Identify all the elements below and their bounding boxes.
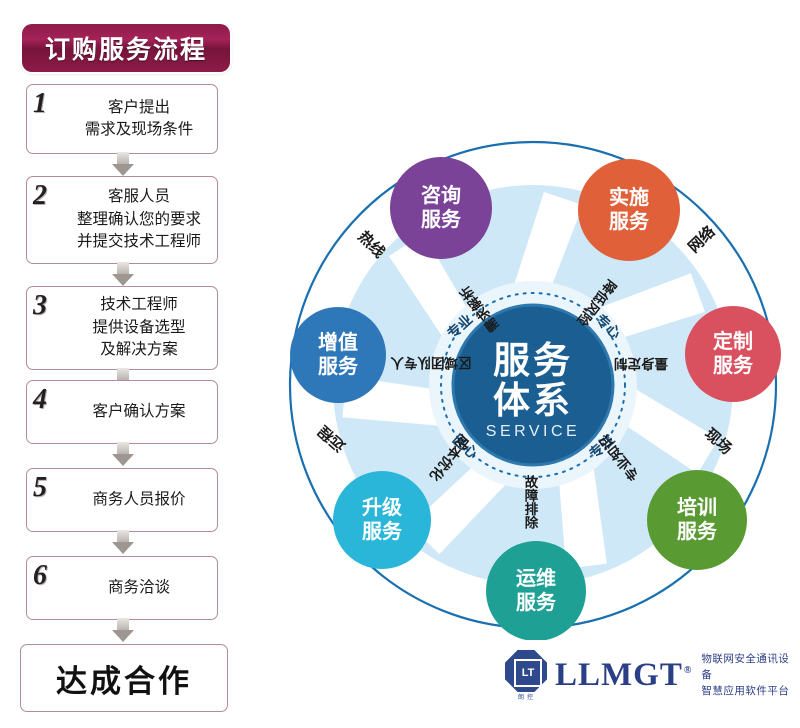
service-node-circle bbox=[578, 159, 680, 261]
logo-wordmark-text: LLMGT bbox=[555, 657, 683, 693]
flow-arrow bbox=[112, 262, 134, 286]
service-node-training[interactable]: 培训 服务 bbox=[647, 470, 747, 570]
step-number: 2 bbox=[27, 177, 67, 210]
flow-arrow bbox=[112, 152, 134, 176]
service-node-label-line2: 服务 bbox=[677, 519, 718, 543]
service-node-circle bbox=[333, 471, 431, 569]
step-line: 客户提出 bbox=[67, 97, 211, 119]
step-text: 客户确认方案 bbox=[67, 397, 217, 427]
service-node-label-line1: 定制 bbox=[713, 329, 753, 353]
center-subtitle: SERVICE bbox=[486, 423, 580, 440]
step-number: 3 bbox=[27, 287, 67, 320]
flow-step-5[interactable]: 5 商务人员报价 bbox=[26, 468, 218, 532]
flow-step-3[interactable]: 3 技术工程师 提供设备选型 及解决方案 bbox=[26, 286, 218, 370]
service-node-circle bbox=[290, 307, 386, 403]
service-node-circle bbox=[390, 157, 492, 259]
service-system-wheel-diagram: 服务 体系 SERVICE 专业 专心 专注 匠心 需求解析 降低风险 量身定制… bbox=[278, 130, 788, 640]
flow-step-1[interactable]: 1 客户提出 需求及现场条件 bbox=[26, 84, 218, 154]
service-node-label-line2: 服务 bbox=[516, 590, 557, 614]
spoke-label-ops: 故障排除 bbox=[523, 474, 539, 531]
service-node-implement[interactable]: 实施 服务 bbox=[578, 159, 680, 261]
logo-registered-mark: ® bbox=[684, 665, 692, 676]
spoke-label-value: 区域团队专人 bbox=[390, 355, 471, 371]
logo-tagline-line1: 物联网安全通讯设备 bbox=[701, 651, 800, 684]
step-line: 技术工程师 bbox=[67, 294, 211, 316]
flow-arrow bbox=[112, 442, 134, 466]
logo-tagline-line2: 智慧应用软件平台 bbox=[701, 683, 800, 699]
step-line: 需求及现场条件 bbox=[67, 119, 211, 141]
service-node-label-line1: 实施 bbox=[609, 185, 649, 209]
order-service-flow-column: 订购服务流程 1 客户提出 需求及现场条件 2 客服人员 整理确认您的要求 并提… bbox=[0, 0, 260, 728]
flow-step-2[interactable]: 2 客服人员 整理确认您的要求 并提交技术工程师 bbox=[26, 176, 218, 264]
service-node-label-line2: 服务 bbox=[609, 209, 650, 233]
step-line: 商务人员报价 bbox=[67, 489, 211, 511]
company-logo: LT 朗控 LLMGT® 物联网安全通讯设备 智慧应用软件平台 bbox=[505, 650, 800, 700]
step-text: 商务洽谈 bbox=[67, 573, 217, 603]
center-title-line2: 体系 bbox=[493, 380, 573, 421]
logo-tagline: 物联网安全通讯设备 智慧应用软件平台 bbox=[701, 651, 800, 700]
step-line: 及解决方案 bbox=[67, 339, 211, 361]
service-node-label-line1: 增值 bbox=[318, 330, 358, 354]
step-text: 客户提出 需求及现场条件 bbox=[67, 93, 217, 146]
step-line: 并提交技术工程师 bbox=[67, 231, 211, 253]
step-text: 客服人员 整理确认您的要求 并提交技术工程师 bbox=[67, 182, 217, 257]
logo-octagon-icon: LT 朗控 bbox=[505, 650, 547, 700]
flow-arrow bbox=[112, 530, 134, 554]
step-line: 商务洽谈 bbox=[67, 577, 211, 599]
spoke-label-custom: 量身定制 bbox=[614, 356, 668, 372]
flow-step-6[interactable]: 6 商务洽谈 bbox=[26, 556, 218, 620]
service-node-circle bbox=[685, 306, 781, 402]
flow-final-outcome: 达成合作 bbox=[20, 644, 228, 712]
flow-title-banner: 订购服务流程 bbox=[22, 24, 230, 72]
center-title-line1: 服务 bbox=[493, 340, 573, 381]
step-number: 5 bbox=[27, 469, 67, 502]
step-line: 客服人员 bbox=[67, 186, 211, 208]
service-node-value[interactable]: 增值 服务 bbox=[290, 307, 386, 403]
step-text: 技术工程师 提供设备选型 及解决方案 bbox=[67, 290, 217, 365]
service-node-label-line2: 服务 bbox=[362, 519, 403, 543]
logo-mark-subtext: 朗控 bbox=[511, 692, 543, 701]
arrow-head bbox=[112, 274, 134, 286]
service-node-label-line2: 服务 bbox=[713, 353, 754, 377]
service-node-label-line1: 升级 bbox=[362, 495, 402, 519]
service-node-upgrade[interactable]: 升级 服务 bbox=[333, 471, 431, 569]
service-node-consult[interactable]: 咨询 服务 bbox=[390, 157, 492, 259]
service-node-label-line1: 咨询 bbox=[421, 183, 461, 207]
step-line: 提供设备选型 bbox=[67, 317, 211, 339]
step-line: 整理确认您的要求 bbox=[67, 209, 211, 231]
step-number: 4 bbox=[27, 381, 67, 414]
service-node-circle bbox=[486, 541, 586, 640]
step-number: 1 bbox=[27, 85, 67, 118]
arrow-head bbox=[112, 454, 134, 466]
arrow-head bbox=[112, 542, 134, 554]
logo-monogram: LT bbox=[514, 659, 542, 687]
service-node-label-line2: 服务 bbox=[421, 207, 462, 231]
service-node-label-line2: 服务 bbox=[318, 354, 359, 378]
arrow-head bbox=[112, 630, 134, 642]
service-node-custom[interactable]: 定制 服务 bbox=[685, 306, 781, 402]
service-node-label-line1: 培训 bbox=[677, 495, 717, 519]
service-node-label-line1: 运维 bbox=[516, 566, 556, 590]
ring-label-network: 网络 bbox=[684, 223, 718, 257]
step-number: 6 bbox=[27, 557, 67, 590]
service-node-ops[interactable]: 运维 服务 bbox=[486, 541, 586, 640]
service-node-circle bbox=[647, 470, 747, 570]
step-text: 商务人员报价 bbox=[67, 485, 217, 515]
arrow-head bbox=[112, 164, 134, 176]
flow-step-4[interactable]: 4 客户确认方案 bbox=[26, 380, 218, 444]
flow-arrow bbox=[112, 618, 134, 642]
logo-wordmark: LLMGT® bbox=[555, 659, 692, 692]
step-line: 客户确认方案 bbox=[67, 401, 211, 423]
